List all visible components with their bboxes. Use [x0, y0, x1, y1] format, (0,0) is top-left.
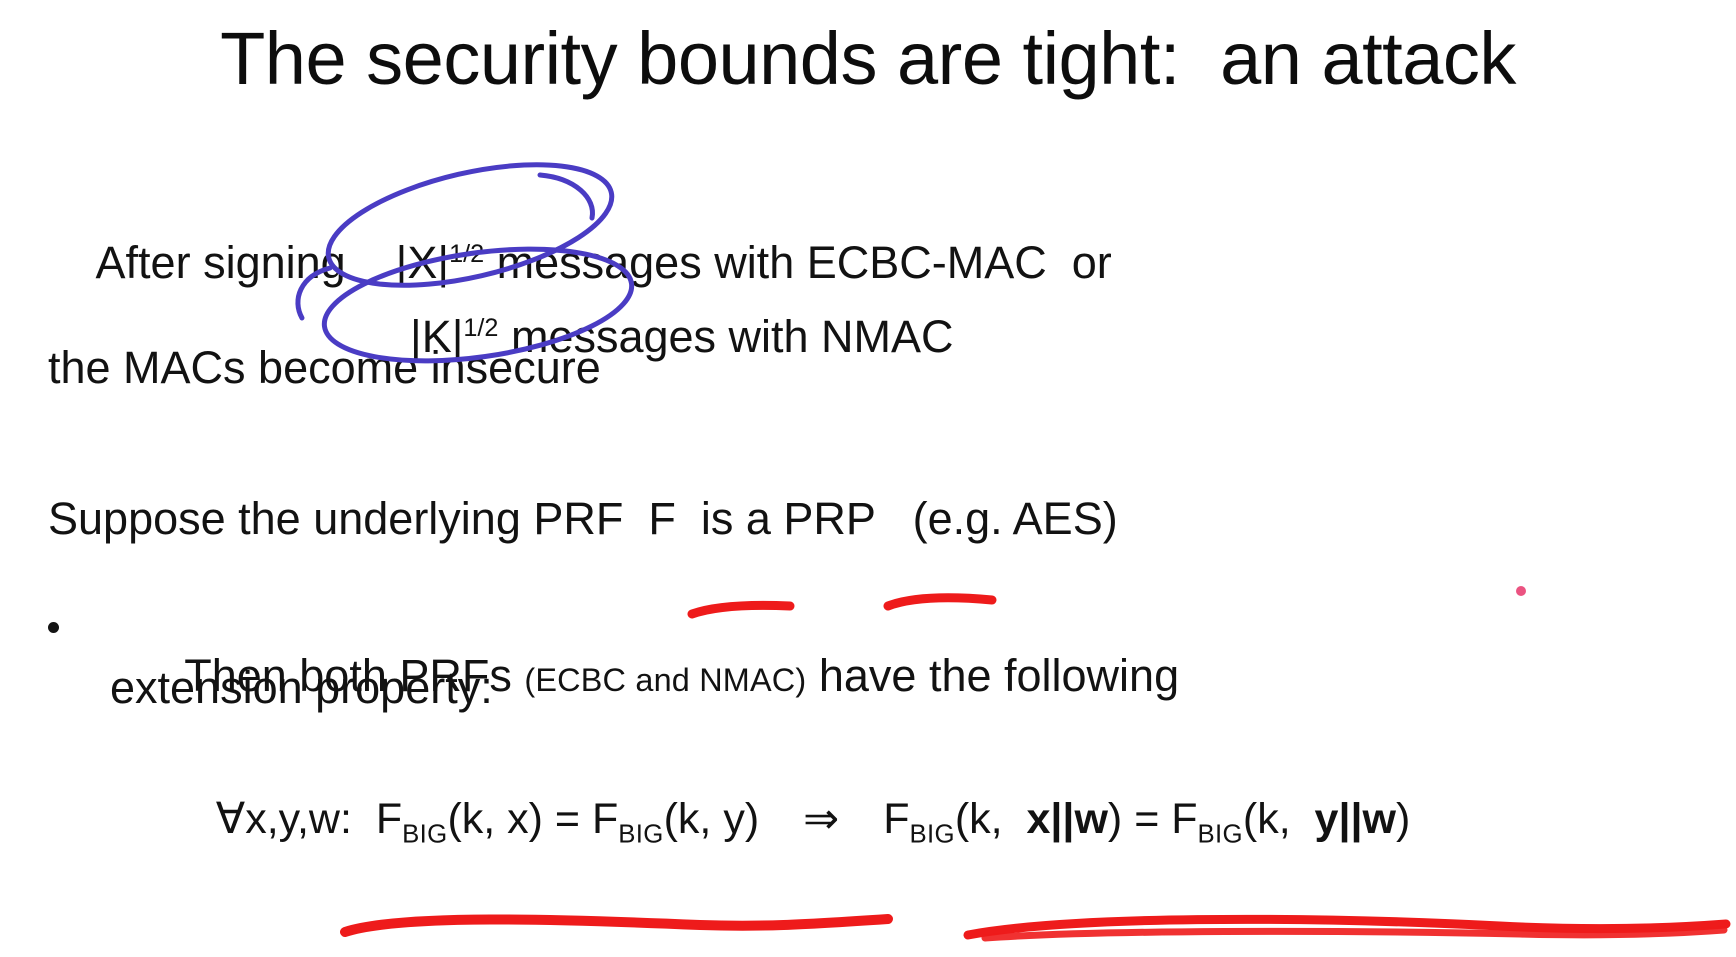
formula-lhs-arg2: (k, y): [664, 795, 760, 843]
red-underline-under-right-formula: [968, 919, 1726, 938]
bullet-line-second: extension property:: [110, 662, 493, 714]
formula-lhs-f1: F: [376, 795, 402, 843]
text-line-suppose-prf: Suppose the underlying PRF F is a PRP (e…: [48, 495, 1118, 542]
formula-rhs-open: (k,: [955, 795, 1027, 843]
after-signing-exponent: 1/2: [449, 240, 484, 268]
bullet-text-part2: have the following: [806, 650, 1179, 701]
formula-rhs-bold-xw: x||w: [1026, 795, 1107, 843]
formula-rhs-mid: ) =: [1108, 795, 1171, 843]
formula-lhs-f1-subscript: BIG: [402, 821, 447, 849]
nmac-exponent: 1/2: [463, 314, 498, 342]
formula-rhs-f2-subscript: BIG: [1198, 821, 1243, 849]
formula-lhs-arg1: (k, x) =: [447, 795, 592, 843]
formula-rhs-f1-subscript: BIG: [909, 821, 954, 849]
formula-implication-sign: ⇒: [803, 795, 839, 843]
formula-lhs-f2-subscript: BIG: [618, 821, 663, 849]
text-line-macs-insecure: the MACs become insecure: [48, 344, 601, 391]
slide-canvas: The security bounds are tight: an attack…: [0, 0, 1736, 957]
page-title: The security bounds are tight: an attack: [0, 16, 1736, 101]
red-underline-under-left-formula: [345, 919, 888, 932]
formula-lhs-f2: F: [592, 795, 618, 843]
formula-quantifier: ∀x,y,w:: [216, 795, 376, 843]
formula-rhs-f2: F: [1171, 795, 1197, 843]
formula-rhs-open-2: (k,: [1243, 795, 1315, 843]
formula-rhs-bold-yw: y||w: [1315, 795, 1396, 843]
formula-rhs-f1: F: [883, 795, 909, 843]
red-pen-dot: [1516, 586, 1526, 596]
bullet-parenthetical: (ECBC and NMAC): [524, 662, 806, 698]
bullet-dot-icon: [48, 622, 59, 633]
formula-rhs-close: ): [1396, 795, 1410, 843]
extension-property-formula: ∀x,y,w: FBIG(k, x) = FBIG(k, y)⇒FBIG(k, …: [168, 745, 1410, 899]
